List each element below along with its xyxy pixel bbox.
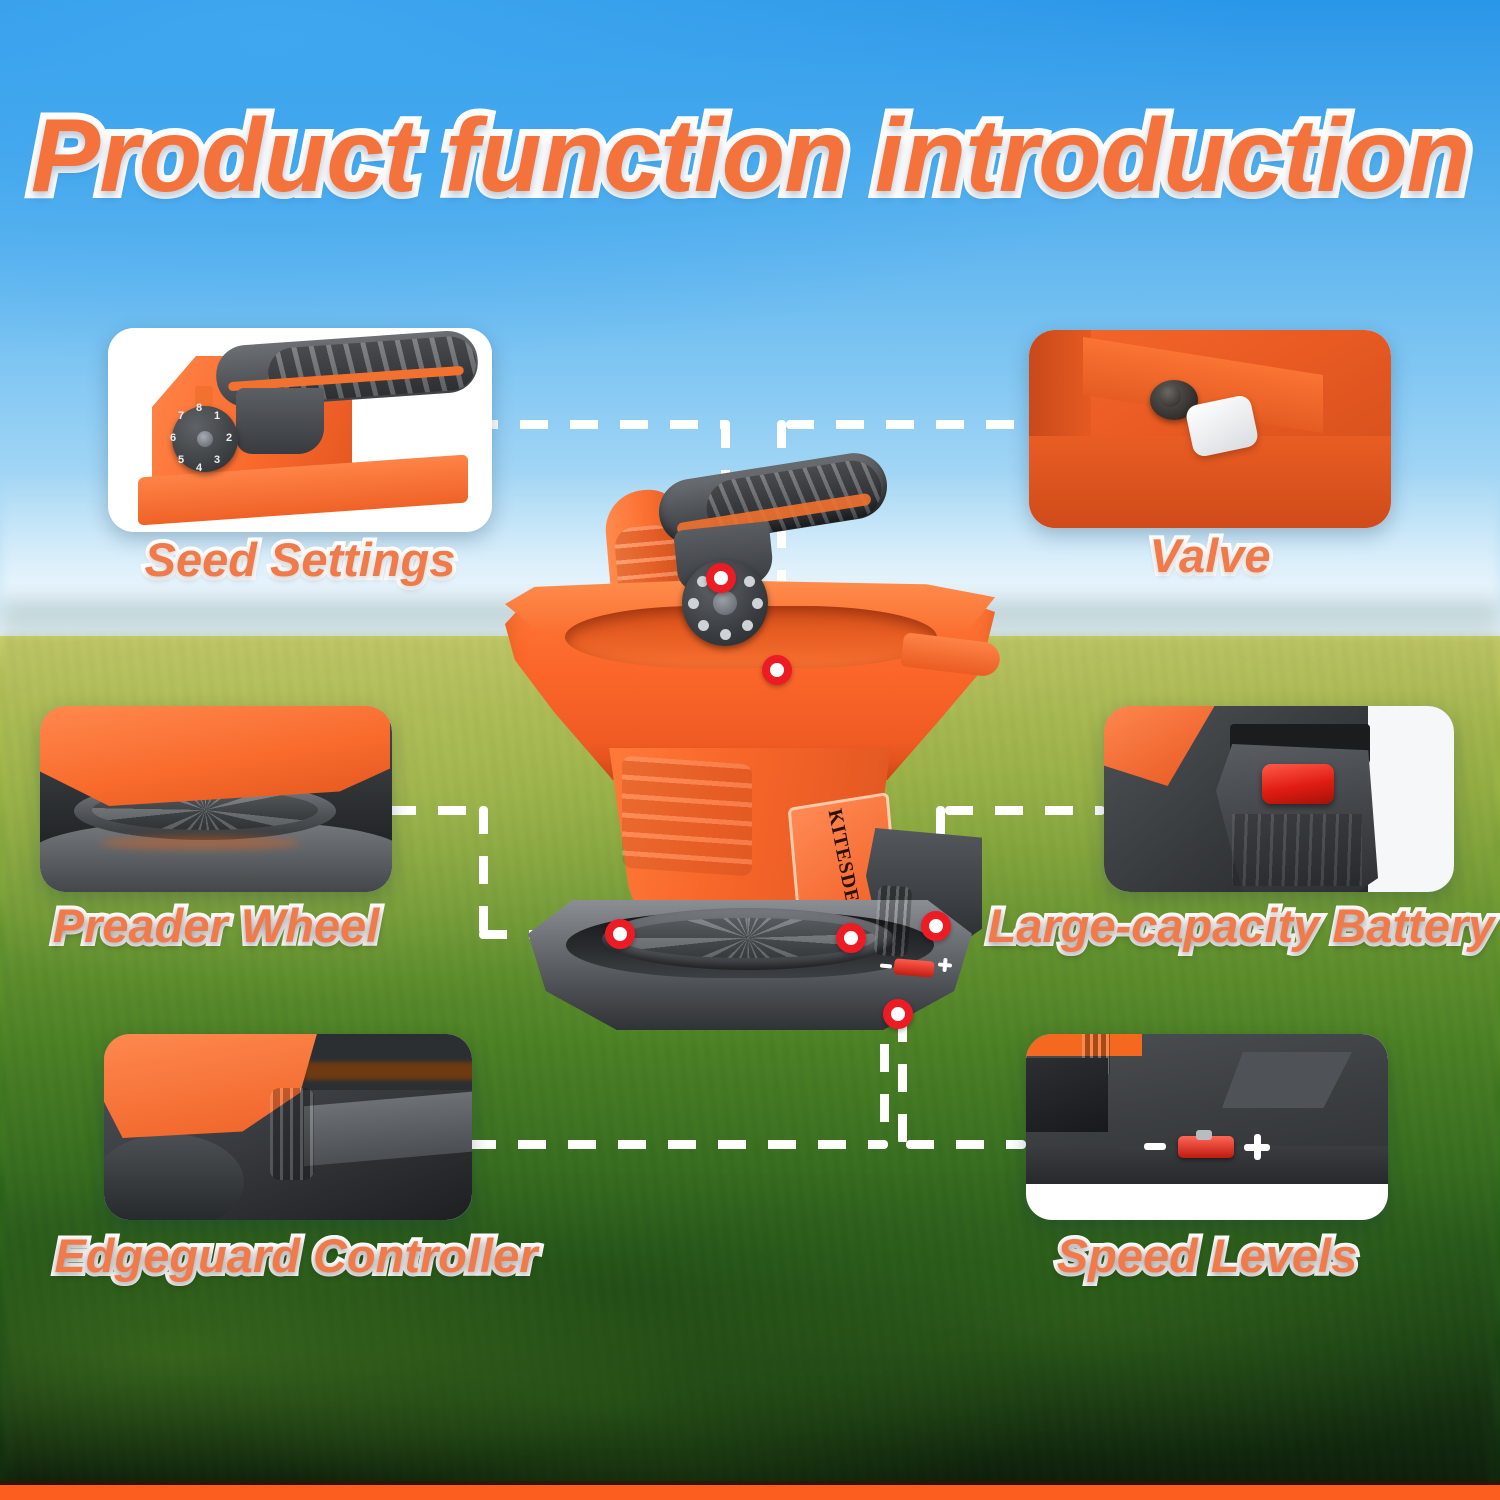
infographic-canvas: Product function introduction KITESDER [0,0,1500,1500]
seed-settings-photo: 1 2 3 4 5 6 7 8 [108,328,492,532]
connector-speed-horizontal [906,1140,1026,1149]
edgeguard-lever-icon [270,1088,314,1180]
callout-card-seed-settings[interactable]: 1 2 3 4 5 6 7 8 [108,328,492,532]
product-illustration: KITESDER [470,430,1030,1050]
callout-dot-seed-settings [706,563,736,593]
callout-card-preader-wheel[interactable] [40,706,392,892]
connector-edgeguard-horizontal [468,1140,888,1149]
callout-card-edgeguard[interactable] [104,1034,472,1220]
speed-levels-photo [1026,1034,1388,1220]
preader-wheel-photo [40,706,392,892]
product-edgeguard-lever [874,885,913,957]
valve-photo [1029,330,1391,528]
speed-slider-switch-icon[interactable] [1178,1136,1234,1158]
page-title: Product function introduction [0,104,1500,208]
callout-label-preader-wheel: Preader Wheel [26,898,406,953]
battery-release-button-icon [1262,764,1334,804]
callout-dot-edgeguard [836,923,866,953]
edgeguard-photo [104,1034,472,1220]
connector-valve-horizontal [786,420,1026,429]
callout-dot-valve [762,655,792,685]
bottom-accent-bar [0,1485,1500,1500]
callout-card-battery[interactable] [1104,706,1454,892]
callout-label-edgeguard: Edgeguard Controller [36,1228,556,1283]
callout-dot-preader-wheel [605,919,635,949]
product-speed-switch [893,958,934,977]
callout-label-speed-levels: Speed Levels [1016,1228,1398,1283]
callout-dot-battery [921,911,951,941]
battery-photo [1104,706,1454,892]
speed-minus-icon [1144,1143,1166,1150]
speed-plus-icon [1244,1134,1270,1160]
callout-label-battery: Large-capacity Battery [986,898,1496,953]
connector-seed-settings-horizontal [470,420,730,429]
callout-dot-speed-levels [883,999,913,1029]
product-body-ribs [622,755,752,876]
product-speed-plus-icon [937,957,952,972]
callout-card-valve[interactable] [1029,330,1391,528]
product-brand-text: KITESDER [823,807,864,907]
callout-label-seed-settings: Seed Settings [108,532,492,587]
callout-label-valve: Valve [1029,528,1391,583]
callout-card-speed-levels[interactable] [1026,1034,1388,1220]
